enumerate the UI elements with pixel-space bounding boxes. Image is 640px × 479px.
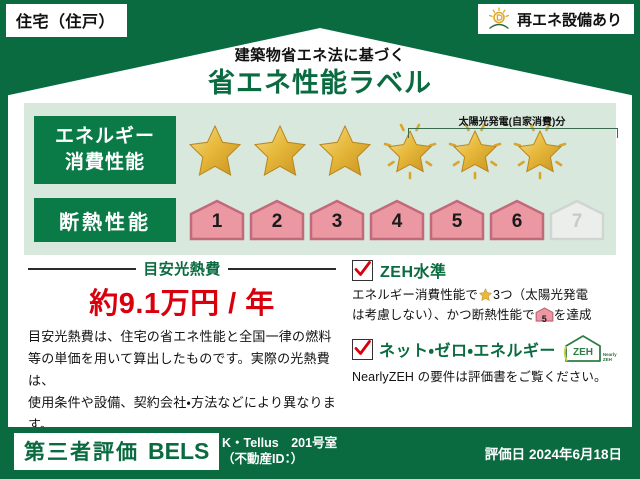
zeh-standard-body: エネルギー消費性能で3つ（太陽光発電 は考慮しない）、かつ断熱性能で5を達成 xyxy=(352,285,618,325)
badge-renewable-energy: 再エネ設備あり xyxy=(478,4,634,34)
cost-note: 目安光熱費は、住宅の省エネ性能と全国一律の燃料 等の単価を用いて算出したものです… xyxy=(28,326,340,436)
badge-building-type: 住宅（住戸） xyxy=(6,4,127,37)
insulation-performance-row: 断熱性能 1 2 3 4 xyxy=(24,196,616,244)
energy-performance-label: 住宅（住戸） 再エネ設備あり 建築物省エネ法に基づく 省エネ性能ラベル xyxy=(0,0,640,479)
net-zero-energy-heading: ネット・ゼロ・エネルギー ZEH NearlyZEH xyxy=(352,334,618,364)
zeh-house-logo-icon: ZEH NearlyZEH xyxy=(562,334,604,364)
star-icon-1 xyxy=(184,119,246,181)
insulation-level-6-number: 6 xyxy=(488,211,546,233)
insulation-house-icon-number: 5 xyxy=(535,309,554,329)
insulation-house-icon-inline: 5 xyxy=(535,307,554,322)
cost-value: 約9.1万円 / 年 xyxy=(28,280,336,322)
zeh-standard-line1-a: エネルギー消費性能で xyxy=(352,288,478,302)
zeh-standard-line2-a: は考慮しない）、かつ断熱性能で xyxy=(352,308,535,322)
cost-note-line-1: 目安光熱費は、住宅の省エネ性能と全国一律の燃料 xyxy=(28,326,340,348)
insulation-level-1-number: 1 xyxy=(188,211,246,233)
insulation-level-3: 3 xyxy=(308,198,366,242)
insulation-level-4-number: 4 xyxy=(368,211,426,233)
footer-bar: 第三者評価 BELS K・Tellus 201号室 （不動産ID：） 評価日 2… xyxy=(0,427,640,479)
bels-certification-box: 第三者評価 BELS xyxy=(14,433,219,470)
page-title: 省エネ性能ラベル xyxy=(0,61,640,100)
red-check-icon-2 xyxy=(352,339,373,360)
zeh-section: ZEH水準 エネルギー消費性能で3つ（太陽光発電 は考慮しない）、かつ断熱性能で… xyxy=(352,258,618,387)
insulation-level-7: 7 xyxy=(548,198,606,242)
property-id: （不動産ID：） xyxy=(222,451,337,467)
zeh-standard-line1-b: 3つ（太陽光発電 xyxy=(493,288,588,302)
property-info: K・Tellus 201号室 （不動産ID：） xyxy=(222,435,337,467)
bels-label: BELS xyxy=(148,438,209,465)
cost-rule-left xyxy=(28,268,136,270)
badge-building-type-label: 住宅（住戸） xyxy=(16,14,115,31)
insulation-level-5: 5 xyxy=(428,198,486,242)
performance-panel: エネルギー 消費性能 xyxy=(24,103,616,255)
zeh-standard-title: ZEH水準 xyxy=(380,258,447,282)
evaluation-date: 評価日 2024年6月18日 xyxy=(485,443,622,463)
insulation-label: 断熱性能 xyxy=(59,206,151,235)
solar-bracket-label: 太陽光発電(自家消費)分 xyxy=(402,113,622,128)
energy-label-line1: エネルギー xyxy=(55,124,155,150)
net-zero-energy-title: ネット・ゼロ・エネルギー xyxy=(379,337,556,361)
insulation-label-box: 断熱性能 xyxy=(34,198,176,242)
property-name: K・Tellus 201号室 xyxy=(222,435,337,451)
cost-note-line-2: 等の単価を用いて算出したものです。実際の光熱費は、 xyxy=(28,348,340,392)
star-icon-3 xyxy=(314,119,376,181)
insulation-level-2: 2 xyxy=(248,198,306,242)
cost-heading-row: 目安光熱費 xyxy=(28,258,336,279)
insulation-level-6: 6 xyxy=(488,198,546,242)
insulation-level-5-number: 5 xyxy=(428,211,486,233)
energy-performance-row: エネルギー 消費性能 xyxy=(24,116,616,184)
energy-label-line2: 消費性能 xyxy=(65,150,145,176)
cost-rule-right xyxy=(228,268,336,270)
star-icon-inline xyxy=(478,287,493,302)
cost-heading: 目安光熱費 xyxy=(143,258,221,279)
solar-bracket-annotation: 太陽光発電(自家消費)分 xyxy=(402,114,622,142)
badge-renewable-label: 再エネ設備あり xyxy=(517,9,622,30)
insulation-level-7-number: 7 xyxy=(548,211,606,233)
red-check-icon xyxy=(352,260,373,281)
insulation-level-scale: 1 2 3 4 5 xyxy=(188,198,606,242)
energy-performance-label-box: エネルギー 消費性能 xyxy=(34,116,176,184)
insulation-level-4: 4 xyxy=(368,198,426,242)
svg-text:ZEH: ZEH xyxy=(573,347,593,358)
sun-house-icon xyxy=(486,7,512,31)
zeh-standard-heading: ZEH水準 xyxy=(352,258,618,282)
solar-bracket-line xyxy=(408,128,618,138)
third-party-label: 第三者評価 xyxy=(24,436,139,466)
insulation-level-2-number: 2 xyxy=(248,211,306,233)
insulation-level-1: 1 xyxy=(188,198,246,242)
star-icon-2 xyxy=(249,119,311,181)
net-zero-energy-body: NearlyZEH の要件は評価書をご覧ください。 xyxy=(352,367,618,387)
zeh-standard-line2-b: を達成 xyxy=(554,308,592,322)
zeh-logo-sublabel: NearlyZEH xyxy=(603,352,617,362)
insulation-level-3-number: 3 xyxy=(308,211,366,233)
